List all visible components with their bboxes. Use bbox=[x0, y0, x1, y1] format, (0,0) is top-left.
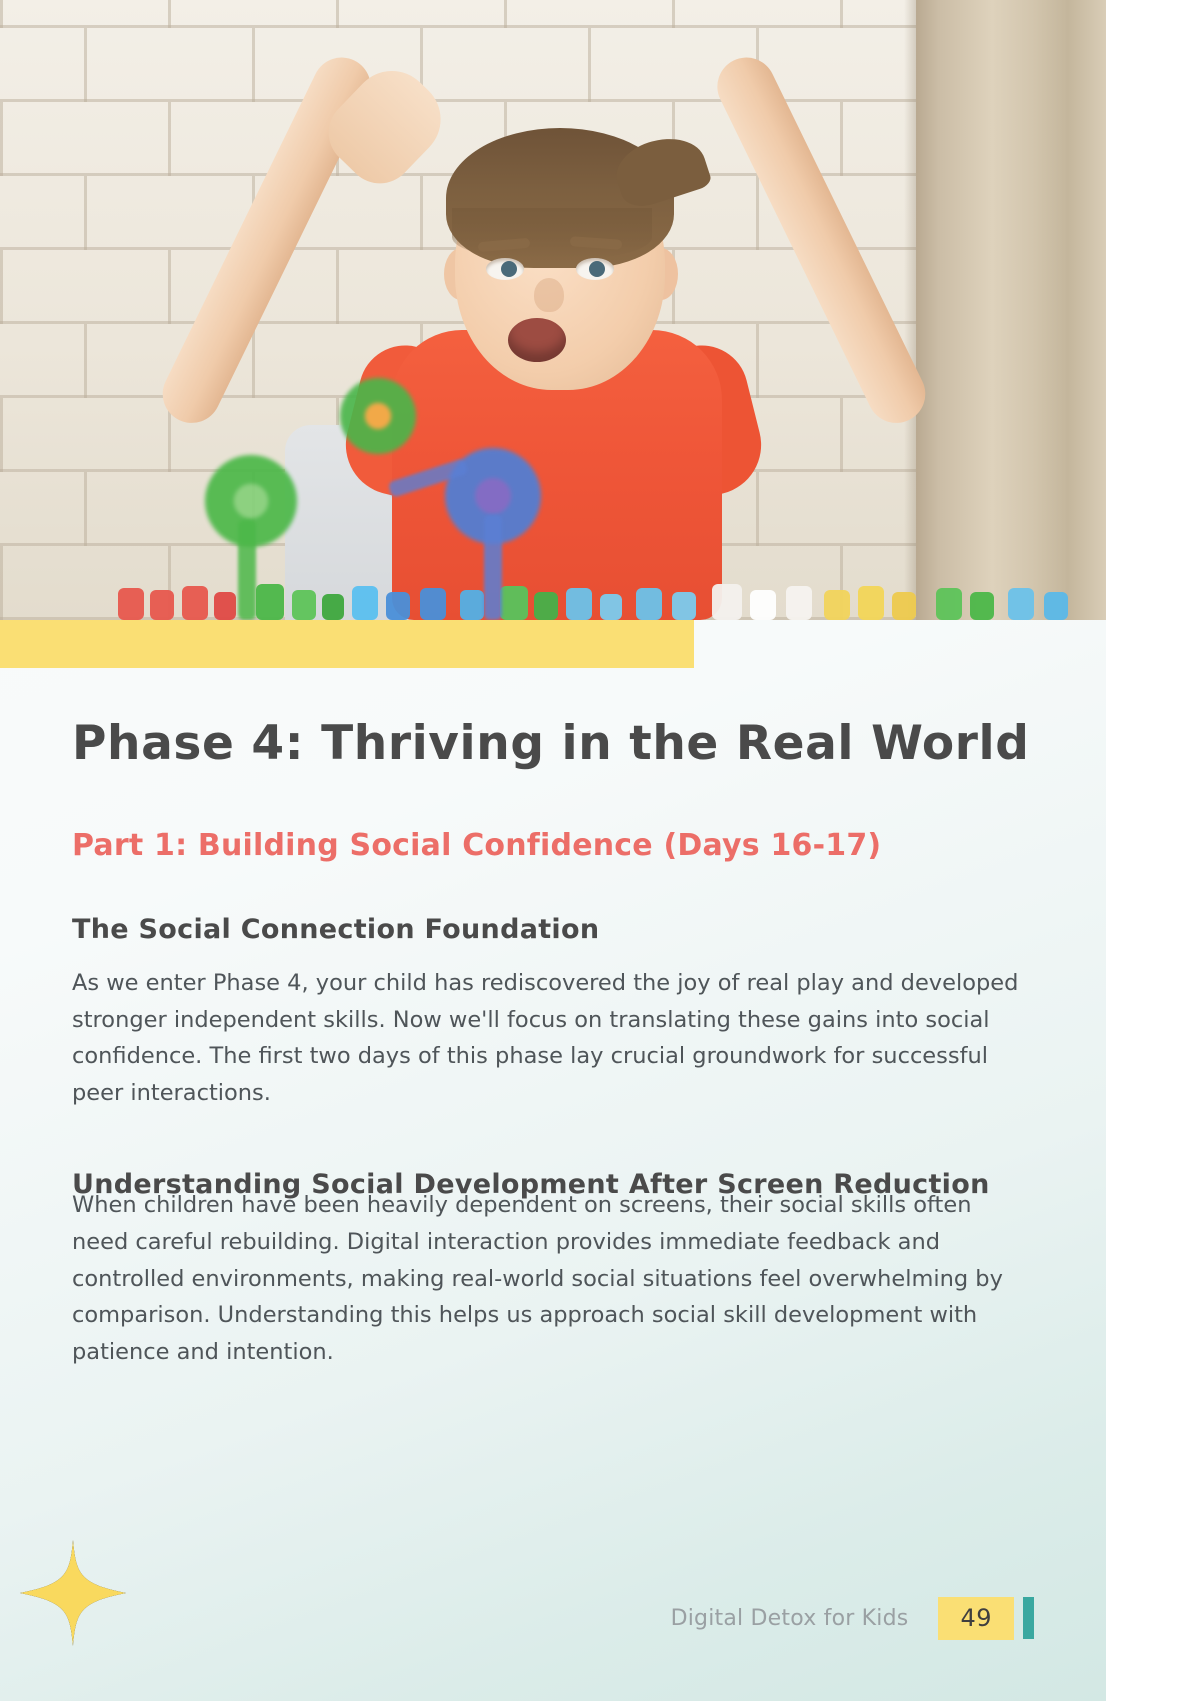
yellow-accent-bar bbox=[0, 620, 694, 668]
section-paragraph-understanding-social-development: When children have been heavily dependen… bbox=[72, 1187, 1034, 1370]
page-content: Phase 4: Thriving in the Real World Part… bbox=[0, 668, 1106, 1371]
section-paragraph-social-connection-foundation: As we enter Phase 4, your child has redi… bbox=[72, 947, 1034, 1112]
green-toy-flower-2 bbox=[340, 378, 416, 454]
green-toy-stick bbox=[238, 520, 256, 620]
left-pupil bbox=[501, 261, 517, 277]
toy-blocks-row bbox=[0, 574, 1106, 620]
open-mouth bbox=[508, 318, 566, 362]
right-gutter bbox=[1106, 0, 1200, 1701]
child-figure bbox=[0, 0, 1106, 620]
left-arm bbox=[153, 48, 380, 433]
toy-blocks-svg bbox=[0, 574, 1106, 620]
book-title-label: Digital Detox for Kids bbox=[671, 1606, 909, 1631]
ebook-page: Phase 4: Thriving in the Real World Part… bbox=[0, 0, 1106, 1701]
hero-photo bbox=[0, 0, 1106, 620]
left-hand bbox=[315, 54, 458, 197]
page-title: Phase 4: Thriving in the Real World bbox=[72, 668, 1034, 774]
section-heading-social-connection-foundation: The Social Connection Foundation bbox=[72, 865, 1034, 947]
part-subtitle: Part 1: Building Social Confidence (Days… bbox=[72, 774, 1034, 865]
blue-toy-stick bbox=[484, 515, 502, 620]
page-number-badge: 49 bbox=[938, 1597, 1014, 1640]
page-footer: Digital Detox for Kids 49 bbox=[0, 1595, 1106, 1641]
nose bbox=[534, 278, 564, 312]
right-pupil bbox=[589, 261, 605, 277]
hair-fringe bbox=[452, 208, 652, 260]
footer-teal-tick bbox=[1023, 1597, 1034, 1639]
